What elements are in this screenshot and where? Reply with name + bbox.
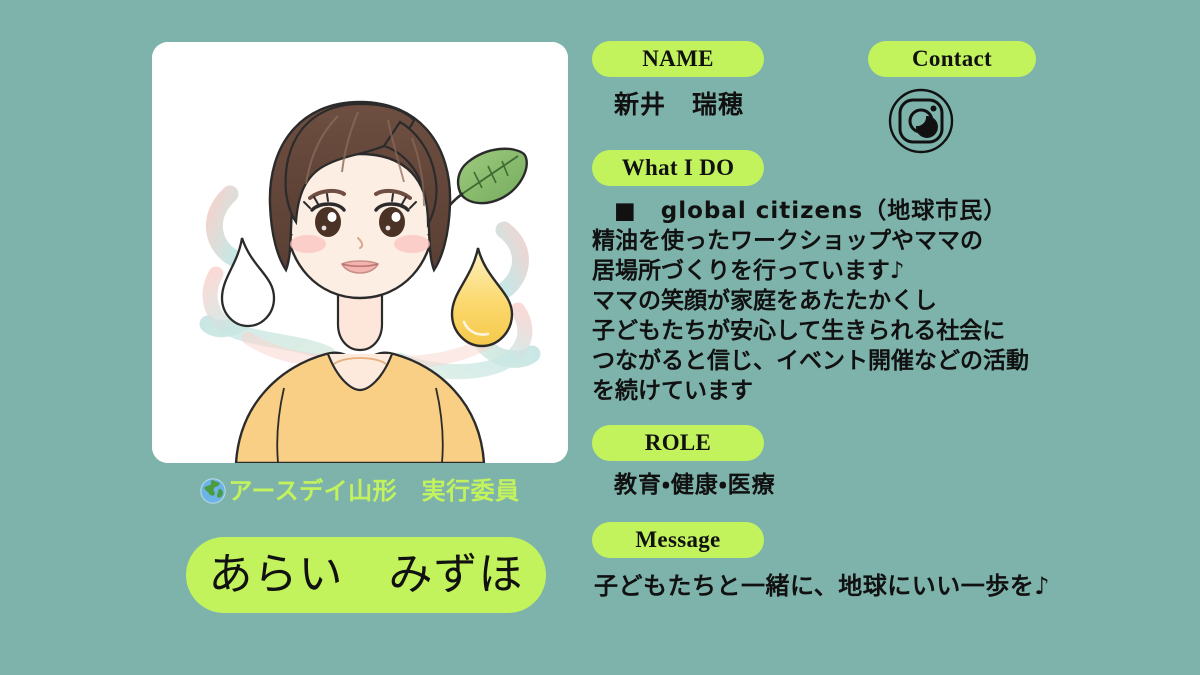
what-i-do-headline: ■ global citizens（地球市民） (592, 196, 1062, 226)
portrait-illustration (152, 42, 568, 463)
instagram-icon[interactable] (888, 88, 954, 154)
what-i-do-line: 居場所づくりを行っています♪ (592, 256, 1062, 286)
portrait-card (152, 42, 568, 463)
value-role: 教育・健康・医療 (614, 474, 776, 497)
profile-card-slide: アースデイ山形 実行委員 あらい みずほ NAME 新井 瑞穂 Contact … (0, 0, 1200, 675)
label-role: ROLE (592, 425, 764, 461)
value-name: 新井 瑞穂 (614, 92, 744, 117)
what-i-do-line: 子どもたちが安心して生きられる社会に (592, 316, 1062, 346)
label-contact: Contact (868, 41, 1036, 77)
value-message: 子どもたちと一緒に、地球にいい一歩を♪ (594, 574, 1050, 598)
label-what-i-do: What I DO (592, 150, 764, 186)
organization-line: アースデイ山形 実行委員 (152, 474, 568, 508)
what-i-do-line: 精油を使ったワークショップやママの (592, 226, 1062, 256)
label-message: Message (592, 522, 764, 558)
globe-icon (200, 478, 226, 504)
what-i-do-line: ママの笑顔が家庭をあたたかくし (592, 286, 1062, 316)
display-name-text: あらい みずほ (209, 553, 524, 597)
what-i-do-body: ■ global citizens（地球市民） 精油を使ったワークショップやママ… (592, 196, 1062, 406)
organization-label: アースデイ山形 実行委員 (228, 479, 519, 503)
what-i-do-line: つながると信じ、イベント開催などの活動 (592, 346, 1062, 376)
what-i-do-line: を続けています (592, 376, 1062, 406)
display-name-badge: あらい みずほ (186, 537, 546, 613)
label-name: NAME (592, 41, 764, 77)
